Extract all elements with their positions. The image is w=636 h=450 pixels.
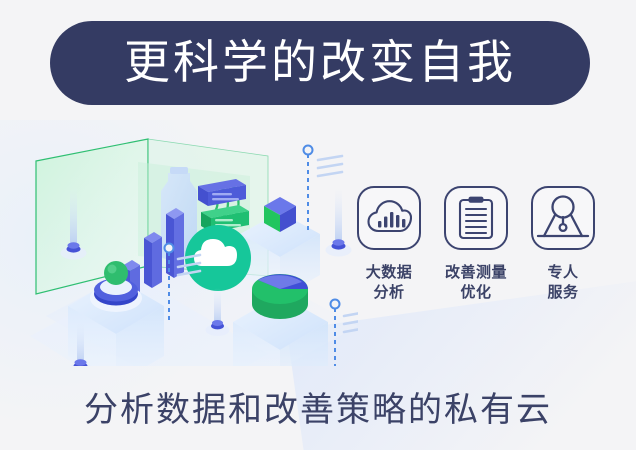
- feature-label-line2: 分析: [366, 283, 413, 303]
- cloud-badge: [185, 225, 251, 291]
- clipboard-icon: [444, 186, 508, 250]
- page-title: 更科学的改变自我: [124, 39, 516, 88]
- cloud-bar-chart-icon: [357, 186, 421, 250]
- feature-label-big-data: 大数据 分析: [366, 263, 413, 304]
- page-subtitle: 分析数据和改善策略的私有云: [0, 382, 636, 431]
- poster-canvas: 更科学的改变自我: [0, 0, 636, 450]
- feature-item-measurement[interactable]: 改善测量 优化: [439, 186, 513, 304]
- feature-label-line1: 改善测量: [445, 264, 507, 281]
- light-beam-marker: [326, 188, 352, 257]
- pie-chart-3d: [252, 274, 308, 319]
- hero-illustration: [18, 126, 358, 366]
- feature-list: 大数据 分析 改善测量: [352, 186, 600, 304]
- support-agent-icon: [531, 186, 595, 250]
- title-banner: 更科学的改变自我: [50, 21, 590, 105]
- feature-label-line2: 优化: [445, 283, 507, 303]
- feature-label-measurement: 改善测量 优化: [445, 263, 507, 304]
- feature-item-big-data[interactable]: 大数据 分析: [352, 186, 426, 304]
- feature-label-line1: 专人: [547, 264, 578, 281]
- feature-label-line2: 服务: [547, 283, 578, 303]
- feature-label-line1: 大数据: [366, 264, 413, 281]
- feature-item-support[interactable]: 专人 服务: [526, 186, 600, 304]
- dashed-connector-line: [331, 300, 359, 367]
- feature-label-support: 专人 服务: [547, 263, 578, 304]
